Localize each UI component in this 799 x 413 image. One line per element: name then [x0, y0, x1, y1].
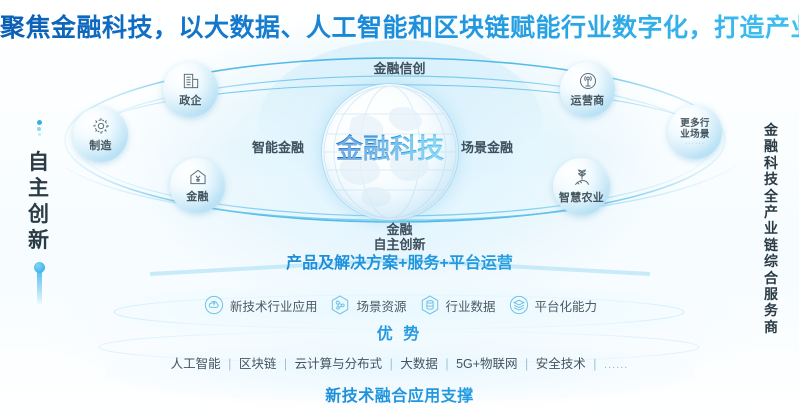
right-vertical-char: 业 [759, 220, 783, 236]
advantage-item-label: 平台化能力 [535, 296, 598, 315]
advantage-item-label: 行业数据 [446, 296, 496, 315]
industry-bubble-label: 智慧农业 [559, 189, 604, 205]
advantages-label: 优 势 [0, 320, 799, 344]
technology-ellipsis: ...... [604, 359, 628, 371]
ring-label-top: 金融信创 [0, 58, 799, 77]
industry-bubble-telecom-operator[interactable]: 运营商 [560, 62, 615, 117]
gear-icon [91, 116, 111, 136]
smart-agriculture-icon [572, 168, 592, 188]
offering-band-title: 产品及解决方案+服务+平台运营 [0, 249, 799, 273]
industry-bubble-label: 制造 [89, 137, 112, 153]
infographic-canvas: 聚焦金融科技，以大数据、人工智能和区块链赋能行业数字化，打造产业融合新生态 [0, 0, 799, 413]
industry-bubble-label-line1: 更多行 [680, 118, 709, 129]
database-hex-icon [419, 294, 441, 316]
advantage-item-label: 场景资源 [356, 296, 406, 315]
advantage-item-scenario-resources[interactable]: 场景资源 [329, 294, 406, 316]
technology-separator: | [228, 357, 231, 371]
right-vertical-char: 服 [759, 286, 783, 302]
left-vertical-char: 创 [22, 202, 56, 228]
right-vertical-char: 金 [759, 122, 783, 138]
technology-separator: | [593, 357, 596, 371]
technology-separator: | [284, 357, 287, 371]
advantages-row: 新技术行业应用 场景资源 [160, 290, 640, 320]
ring-label-left: 智能金融 [252, 137, 304, 156]
bank-house-yuan-icon [188, 167, 208, 187]
right-vertical-char: 全 [759, 188, 783, 204]
technology-item: 安全技术 [536, 357, 586, 371]
advantage-item-platform-capability[interactable]: 平台化能力 [508, 294, 598, 316]
technology-separator: | [445, 357, 448, 371]
advantage-item-label: 新技术行业应用 [230, 296, 318, 315]
industry-bubble-label: 金融 [186, 188, 209, 204]
industry-bubble-finance[interactable]: 金融 [170, 158, 225, 213]
cloud-circle-icon [203, 294, 225, 316]
advantage-item-new-tech-application[interactable]: 新技术行业应用 [203, 294, 318, 316]
technology-item: 区块链 [239, 357, 277, 371]
network-nodes-hex-icon [329, 294, 351, 316]
technology-separator: | [390, 357, 393, 371]
right-vertical-char: 融 [759, 138, 783, 154]
ring-label-right: 场景金融 [461, 137, 513, 156]
industry-bubble-label-line2: 业场景 [680, 129, 709, 140]
technology-item: 大数据 [400, 357, 438, 371]
building-icon [181, 71, 201, 91]
layers-hex-icon [508, 294, 530, 316]
right-vertical-char: 务 [759, 302, 783, 318]
globe-label: 金融科技 [322, 127, 458, 166]
left-vertical-text: 自 主 创 新 [22, 150, 56, 254]
antenna-tower-icon [578, 71, 598, 91]
advantage-item-industry-data[interactable]: 行业数据 [419, 294, 496, 316]
right-vertical-char: 科 [759, 155, 783, 171]
industry-bubble-manufacturing[interactable]: 制造 [73, 107, 128, 162]
technology-separator: | [525, 357, 528, 371]
industry-bubble-label: 政企 [179, 92, 202, 108]
technology-item: 云计算与分布式 [295, 357, 383, 371]
industry-bubble-more-scenarios[interactable]: 更多行 业场景 ······ [668, 105, 722, 159]
technologies-label: 新技术融合应用支撑 [0, 382, 799, 406]
left-vertical-char: 主 [22, 176, 56, 202]
industry-bubble-government-enterprise[interactable]: 政企 [163, 62, 218, 117]
right-vertical-char: 技 [759, 171, 783, 187]
technologies-row: 人工智能 | 区块链 | 云计算与分布式 | 大数据 | 5G+物联网 | 安全… [0, 353, 799, 372]
right-vertical-char: 产 [759, 204, 783, 220]
industry-bubble-smart-agriculture[interactable]: 智慧农业 [553, 158, 610, 215]
technology-item: 人工智能 [171, 357, 221, 371]
technology-item: 5G+物联网 [456, 357, 517, 371]
left-decorative-dots [33, 120, 45, 138]
more-scenarios-dots: ······ [685, 140, 705, 147]
left-vertical-char: 自 [22, 150, 56, 176]
industry-bubble-label: 运营商 [571, 92, 605, 108]
right-vertical-text: 金 融 科 技 全 产 业 链 综 合 服 务 商 [759, 122, 783, 335]
